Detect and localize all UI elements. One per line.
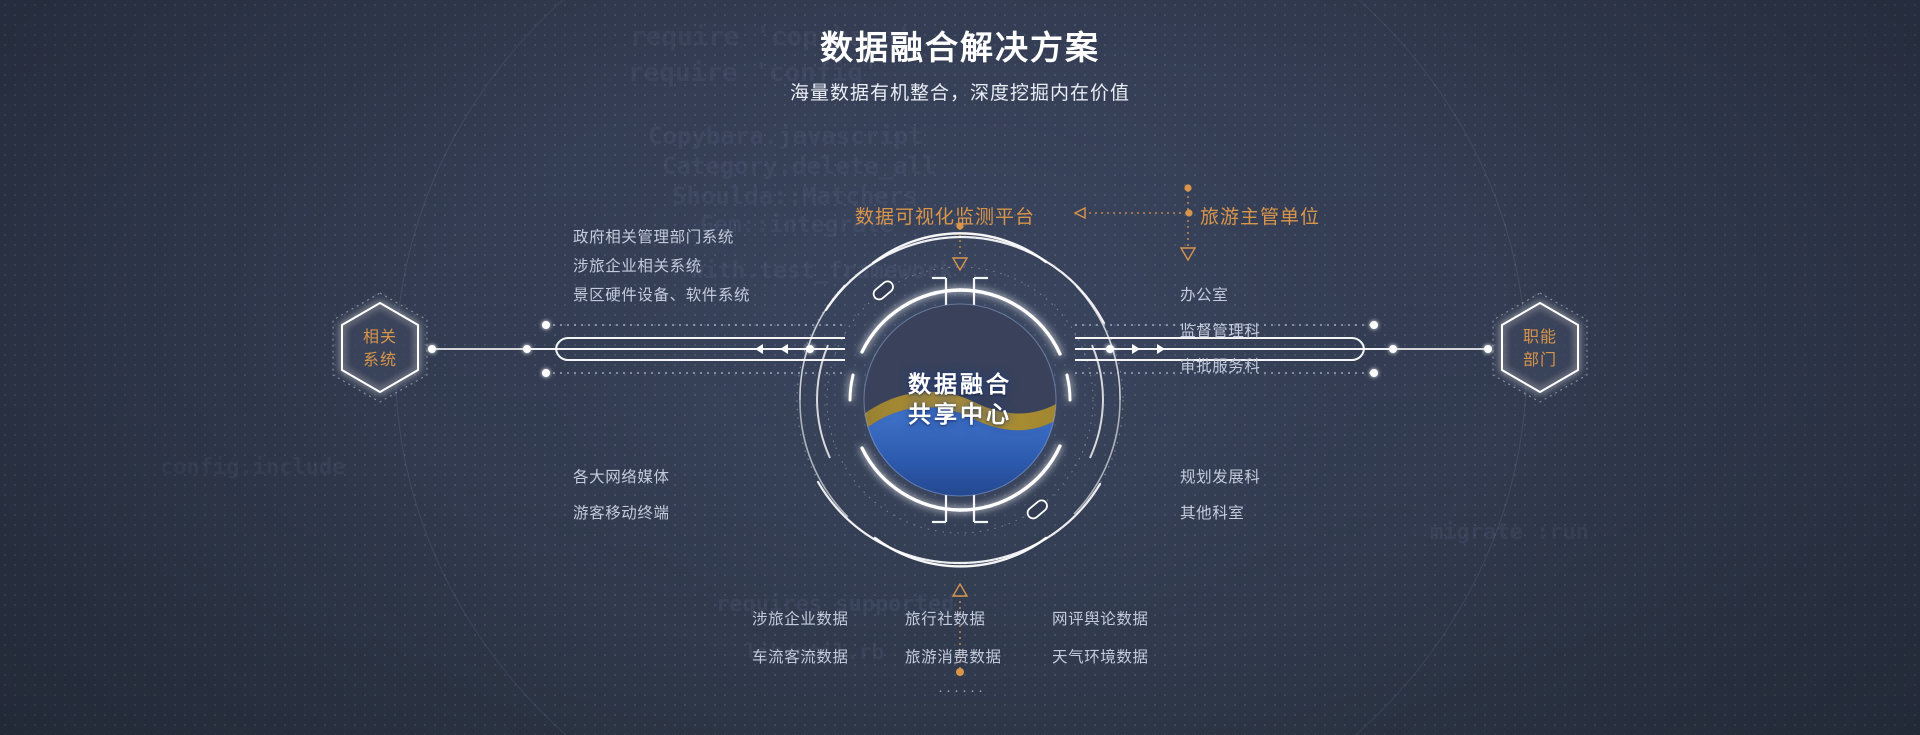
right-department-item-0: 办公室 (1180, 283, 1228, 305)
right-department-item-3: 规划发展科 (1180, 465, 1261, 487)
page-subtitle: 海量数据有机整合，深度挖掘内在价值 (0, 82, 1920, 107)
right-hexagon-label: 职能 部门 (1500, 326, 1580, 372)
bottom-data-item-2: 旅行社数据 (905, 607, 986, 629)
bottom-data-item-5: 天气环境数据 (1052, 645, 1149, 667)
left-source-item-1: 涉旅企业相关系统 (573, 254, 702, 276)
left-source-item-4: 游客移动终端 (573, 501, 670, 523)
left-hexagon-label-line2: 系统 (340, 349, 420, 372)
left-hexagon-label: 相关 系统 (340, 326, 420, 372)
bottom-data-item-1: 车流客流数据 (752, 645, 849, 667)
hero-banner: require 'copybara' require 'config' Copy… (0, 0, 1920, 735)
arrow-platform-authority (1075, 208, 1193, 218)
bottom-data-ellipsis: ······ (938, 682, 986, 699)
arrow-authority-down (1181, 184, 1195, 260)
right-connectors (1075, 321, 1492, 377)
node-tourism-authority[interactable]: 旅游主管单位 (1200, 202, 1320, 229)
left-connectors (428, 321, 845, 377)
bottom-data-item-0: 涉旅企业数据 (752, 607, 849, 629)
right-hexagon-label-line1: 职能 (1500, 326, 1580, 349)
bottom-data-item-3: 旅游消费数据 (905, 645, 1002, 667)
core-sphere (856, 296, 1064, 504)
right-department-item-4: 其他科室 (1180, 501, 1244, 523)
page-title: 数据融合解决方案 (0, 28, 1920, 68)
bottom-data-item-4: 网评舆论数据 (1052, 607, 1149, 629)
arrow-platform-down (953, 222, 967, 270)
left-source-item-3: 各大网络媒体 (573, 465, 670, 487)
left-hexagon-label-line1: 相关 (340, 326, 420, 349)
header: 数据融合解决方案 海量数据有机整合，深度挖掘内在价值 (0, 28, 1920, 106)
node-visualization-platform[interactable]: 数据可视化监测平台 (855, 202, 1035, 229)
left-source-item-0: 政府相关管理部门系统 (573, 225, 734, 247)
left-source-item-2: 景区硬件设备、软件系统 (573, 283, 750, 305)
right-department-item-2: 审批服务科 (1180, 354, 1261, 376)
right-hexagon-label-line2: 部门 (1500, 349, 1580, 372)
right-department-item-1: 监督管理科 (1180, 319, 1261, 341)
